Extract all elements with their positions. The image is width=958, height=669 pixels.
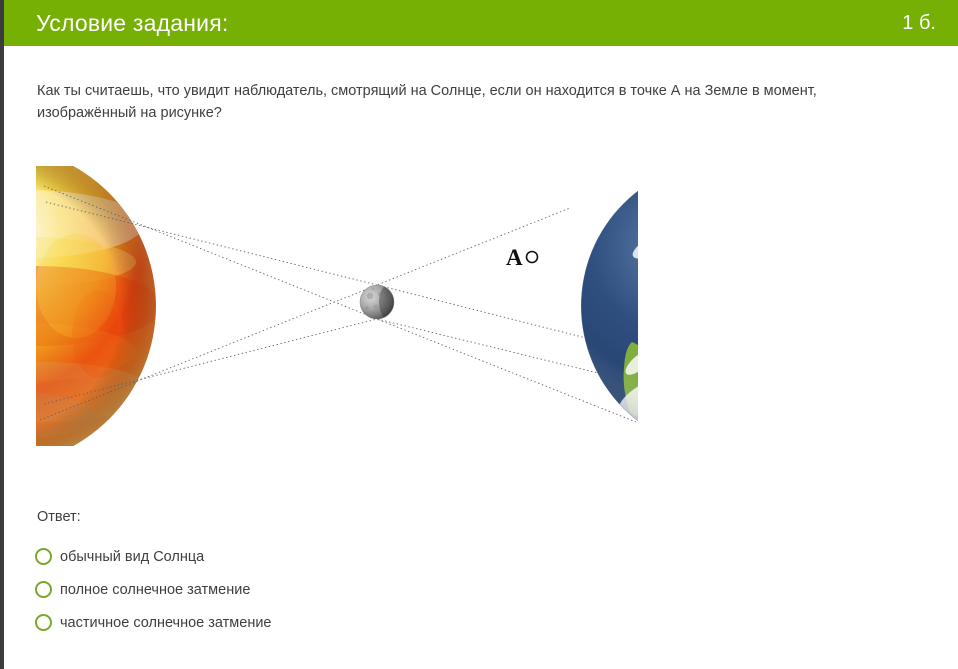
point-a-label: А — [506, 245, 523, 270]
option-label-0: обычный вид Солнца — [60, 548, 204, 566]
eclipse-diagram: А — [36, 166, 638, 446]
question-text: Как ты считаешь, что увидит наблюдатель,… — [37, 80, 882, 124]
sun-body — [36, 166, 162, 446]
task-page: Условие задания: 1 б. Как ты считаешь, ч… — [0, 0, 958, 669]
task-header: Условие задания: 1 б. — [4, 0, 958, 46]
answer-label: Ответ: — [37, 507, 81, 527]
point-a-marker — [527, 252, 538, 263]
option-row-2[interactable]: частичное солнечное затмение — [35, 606, 535, 639]
moon-body — [360, 285, 397, 319]
score-badge: 1 б. — [902, 13, 936, 33]
option-row-1[interactable]: полное солнечное затмение — [35, 573, 535, 606]
option-label-2: частичное солнечное затмение — [60, 614, 272, 632]
radio-icon-1[interactable] — [35, 581, 52, 598]
answer-options: обычный вид Солнца полное солнечное затм… — [35, 540, 535, 639]
option-label-1: полное солнечное затмение — [60, 581, 250, 599]
option-row-0[interactable]: обычный вид Солнца — [35, 540, 535, 573]
radio-icon-2[interactable] — [35, 614, 52, 631]
page-title: Условие задания: — [36, 12, 228, 35]
radio-icon-0[interactable] — [35, 548, 52, 565]
observer-point-a: А — [506, 245, 538, 270]
earth-body — [581, 166, 638, 446]
